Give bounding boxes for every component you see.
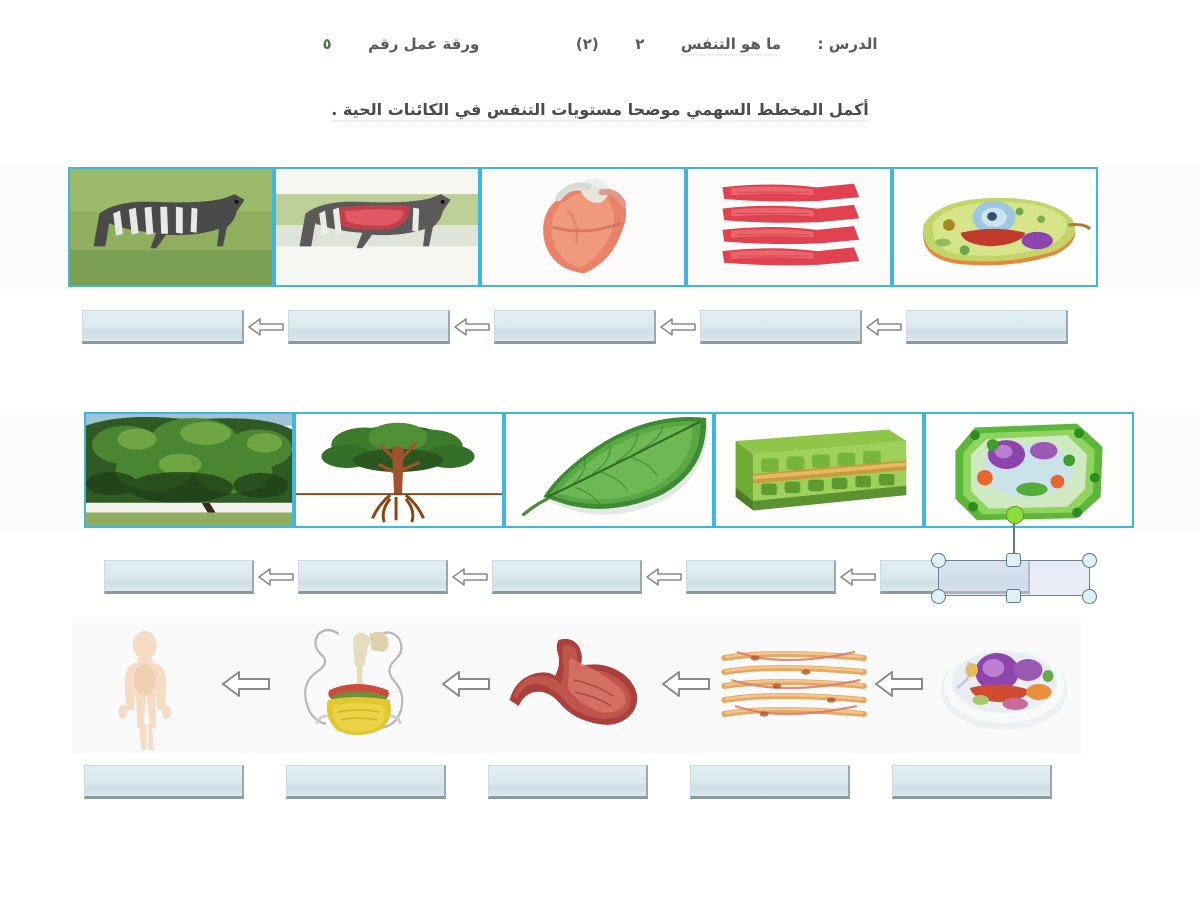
answer-box[interactable]: [494, 310, 656, 344]
arrow-left-icon: [836, 564, 880, 590]
arrow-left-icon: [862, 314, 906, 340]
answer-box[interactable]: [298, 560, 448, 594]
human-cell-image: [928, 620, 1083, 752]
lesson-paren: (٢): [576, 35, 599, 53]
worksheet-prompt: أكمل المخطط السهمي موضحا مستويات التنفس …: [0, 100, 1200, 119]
arrow-left-icon: [450, 314, 494, 340]
animal-image-strip: [68, 167, 1100, 287]
answer-box[interactable]: [906, 310, 1068, 344]
answer-box[interactable]: [104, 560, 254, 594]
heart-organ-image: [480, 167, 686, 287]
answer-box[interactable]: [690, 765, 850, 799]
smooth-muscle-tissue-image: [715, 620, 870, 752]
answer-box[interactable]: [492, 560, 642, 594]
arrow-left-icon: [870, 664, 928, 704]
arrow-left-icon: [656, 314, 700, 340]
resize-handle-bottom-left[interactable]: [931, 589, 946, 604]
animal-answer-box-row: [82, 310, 1068, 344]
arrow-left-icon: [448, 564, 492, 590]
resize-handle-top-left[interactable]: [931, 553, 946, 568]
worksheet-label: ورقة عمل رقم: [368, 35, 479, 53]
human-answer-box-row: [84, 765, 1052, 799]
resize-handle-top-center[interactable]: [1006, 553, 1021, 567]
human-body-image: [72, 620, 217, 752]
resize-handle-bottom-center[interactable]: [1006, 589, 1021, 603]
answer-box[interactable]: [84, 765, 244, 799]
plant-cell-image: [924, 412, 1134, 528]
tree-canopy-photo-image: [84, 412, 294, 528]
arrow-left-icon: [217, 664, 275, 704]
answer-box[interactable]: [488, 765, 648, 799]
animal-cell-image: [892, 167, 1098, 287]
human-image-strip: [72, 620, 1082, 752]
worksheet-header: الدرس : ما هو التنفس ٢ (٢) ورقة عمل رقم …: [0, 34, 1200, 53]
header-text-line: الدرس : ما هو التنفس ٢ (٢) ورقة عمل رقم …: [323, 35, 878, 53]
lesson-number: ٢: [635, 35, 644, 53]
worksheet-number: ٥: [323, 35, 332, 53]
plant-answer-box-row: [104, 560, 1030, 594]
answer-box[interactable]: [82, 310, 244, 344]
lesson-label: الدرس :: [817, 35, 877, 53]
arrow-left-icon: [244, 314, 288, 340]
answer-box[interactable]: [686, 560, 836, 594]
zebra-organ-system-image: [274, 167, 480, 287]
answer-box[interactable]: [288, 310, 450, 344]
answer-box[interactable]: [286, 765, 446, 799]
tree-with-roots-image: [294, 412, 504, 528]
zebra-whole-organism-image: [68, 167, 274, 287]
arrow-left-icon: [642, 564, 686, 590]
resize-handle-top-right[interactable]: [1082, 553, 1097, 568]
leaf-tissue-image: [714, 412, 924, 528]
answer-box[interactable]: [700, 310, 862, 344]
resize-handle-bottom-right[interactable]: [1082, 589, 1097, 604]
leaf-organ-image: [504, 412, 714, 528]
answer-box[interactable]: [892, 765, 1052, 799]
arrow-left-icon: [657, 664, 715, 704]
stomach-organ-image: [495, 620, 657, 752]
muscle-tissue-image: [686, 167, 892, 287]
prompt-text: أكمل المخطط السهمي موضحا مستويات التنفس …: [331, 100, 869, 119]
plant-image-strip: [84, 412, 1134, 528]
digestive-system-image: [275, 620, 437, 752]
arrow-left-icon: [254, 564, 298, 590]
rotate-handle[interactable]: [1006, 506, 1024, 524]
lesson-title: ما هو التنفس: [681, 35, 781, 53]
arrow-left-icon: [437, 664, 495, 704]
